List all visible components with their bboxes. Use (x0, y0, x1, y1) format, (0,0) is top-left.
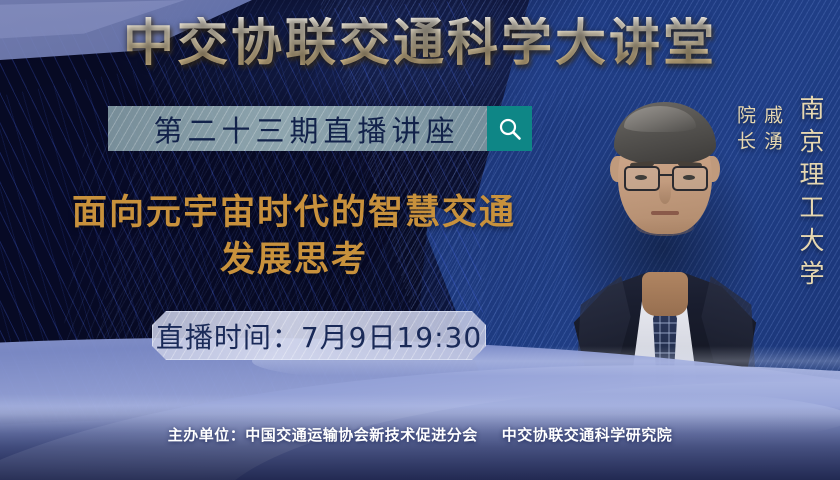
broadcast-time-badge: 直播时间：7月9日19:30 (152, 311, 486, 360)
live-lecture-poster: 中交协联交通科学大讲堂 中交协联交通科学大讲堂 第二十三期直播讲座 面向元宇宙时… (0, 0, 840, 480)
lecture-topic-line-2: 发展思考 (34, 237, 554, 284)
footer-org-1: 中国交通运输协会新技术促进分会 (245, 426, 478, 444)
session-banner: 第二十三期直播讲座 (108, 106, 532, 151)
speaker-affiliation: 南京理工大学 (792, 95, 828, 293)
footer-org-2: 中交协联交通科学研究院 (502, 426, 673, 444)
session-label: 第二十三期直播讲座 (108, 108, 487, 150)
portrait-glasses-lens-right (672, 166, 708, 191)
portrait-neck (642, 272, 688, 316)
lecture-topic: 面向元宇宙时代的智慧交通 发展思考 (34, 190, 554, 284)
portrait-nose (659, 182, 671, 204)
broadcast-time-text: 直播时间：7月9日19:30 (156, 316, 482, 356)
portrait-glasses-lens-left (624, 166, 660, 191)
search-icon (497, 116, 523, 142)
lecture-topic-line-1: 面向元宇宙时代的智慧交通 (34, 190, 554, 237)
main-title: 中交协联交通科学大讲堂 (0, 17, 840, 71)
speaker-role: 院长 (734, 105, 756, 157)
portrait-glasses-bridge (660, 174, 672, 176)
portrait-mouth (651, 211, 679, 215)
footer-organizers: 主办单位：中国交通运输协会新技术促进分会中交协联交通科学研究院 (0, 424, 840, 445)
speaker-name-role: 戚湧 院长 (732, 105, 786, 157)
search-button[interactable] (487, 106, 532, 151)
speaker-name: 戚湧 (761, 105, 783, 157)
footer-prefix: 主办单位： (168, 426, 246, 444)
portrait-chin-shadow (636, 218, 694, 236)
